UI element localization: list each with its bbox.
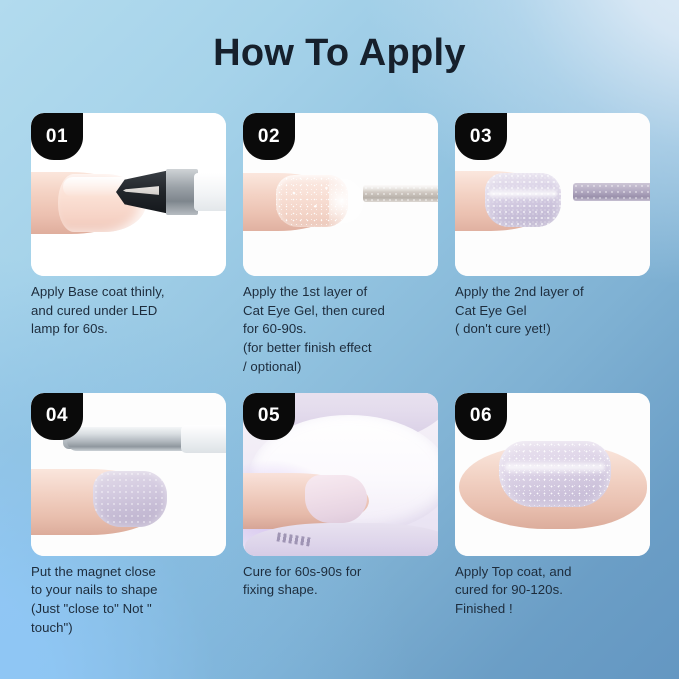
step-caption-02: Apply the 1st layer of Cat Eye Gel, then… <box>243 283 438 377</box>
nail-shape <box>305 475 367 523</box>
how-to-apply-poster: How To Apply 01 Apply Base coat thinly, … <box>0 0 679 679</box>
step-number-badge-04: 04 <box>31 393 83 440</box>
gel-brush-icon <box>573 183 650 201</box>
step-04-image-card: 04 <box>31 393 226 556</box>
cat-eye-band <box>489 187 557 200</box>
step-card-02: 02 Apply the 1st layer of Cat Eye Gel, t… <box>243 113 438 377</box>
page-title: How To Apply <box>0 31 679 77</box>
step-card-01: 01 Apply Base coat thinly, and cured und… <box>31 113 226 377</box>
magnet-handle <box>181 425 226 453</box>
brush-handle <box>194 173 226 211</box>
step-card-06: 06 Apply Top coat, and cured for 90-120s… <box>455 393 650 638</box>
shimmer-texture <box>93 471 167 527</box>
step-03-image-card: 03 <box>455 113 650 276</box>
step-card-05: 05 Cure for 60s-90s for fixing shape. <box>243 393 438 638</box>
step-caption-06: Apply Top coat, and cured for 90-120s. F… <box>455 563 650 619</box>
step-card-03: 03 Apply the 2nd layer of Cat Eye Gel ( … <box>455 113 650 377</box>
step-05-image-card: 05 <box>243 393 438 556</box>
step-caption-04: Put the magnet close to your nails to sh… <box>31 563 226 638</box>
step-06-image-card: 06 <box>455 393 650 556</box>
cat-eye-band <box>505 459 605 475</box>
magnet-stick-icon <box>67 427 195 451</box>
step-number-badge-03: 03 <box>455 113 507 160</box>
step-number-badge-05: 05 <box>243 393 295 440</box>
brush-sheen <box>363 185 438 192</box>
uv-lamp-base <box>245 523 438 556</box>
shimmer-texture <box>485 173 561 227</box>
step-caption-03: Apply the 2nd layer of Cat Eye Gel ( don… <box>455 283 650 339</box>
step-caption-05: Cure for 60s-90s for fixing shape. <box>243 563 438 600</box>
step-number-badge-06: 06 <box>455 393 507 440</box>
steps-grid: 01 Apply Base coat thinly, and cured und… <box>31 113 651 638</box>
step-card-04: 04 Put the magnet close to your nails to… <box>31 393 226 638</box>
step-01-image-card: 01 <box>31 113 226 276</box>
step-number-badge-01: 01 <box>31 113 83 160</box>
step-02-image-card: 02 <box>243 113 438 276</box>
step-number-badge-02: 02 <box>243 113 295 160</box>
step-caption-01: Apply Base coat thinly, and cured under … <box>31 283 226 339</box>
